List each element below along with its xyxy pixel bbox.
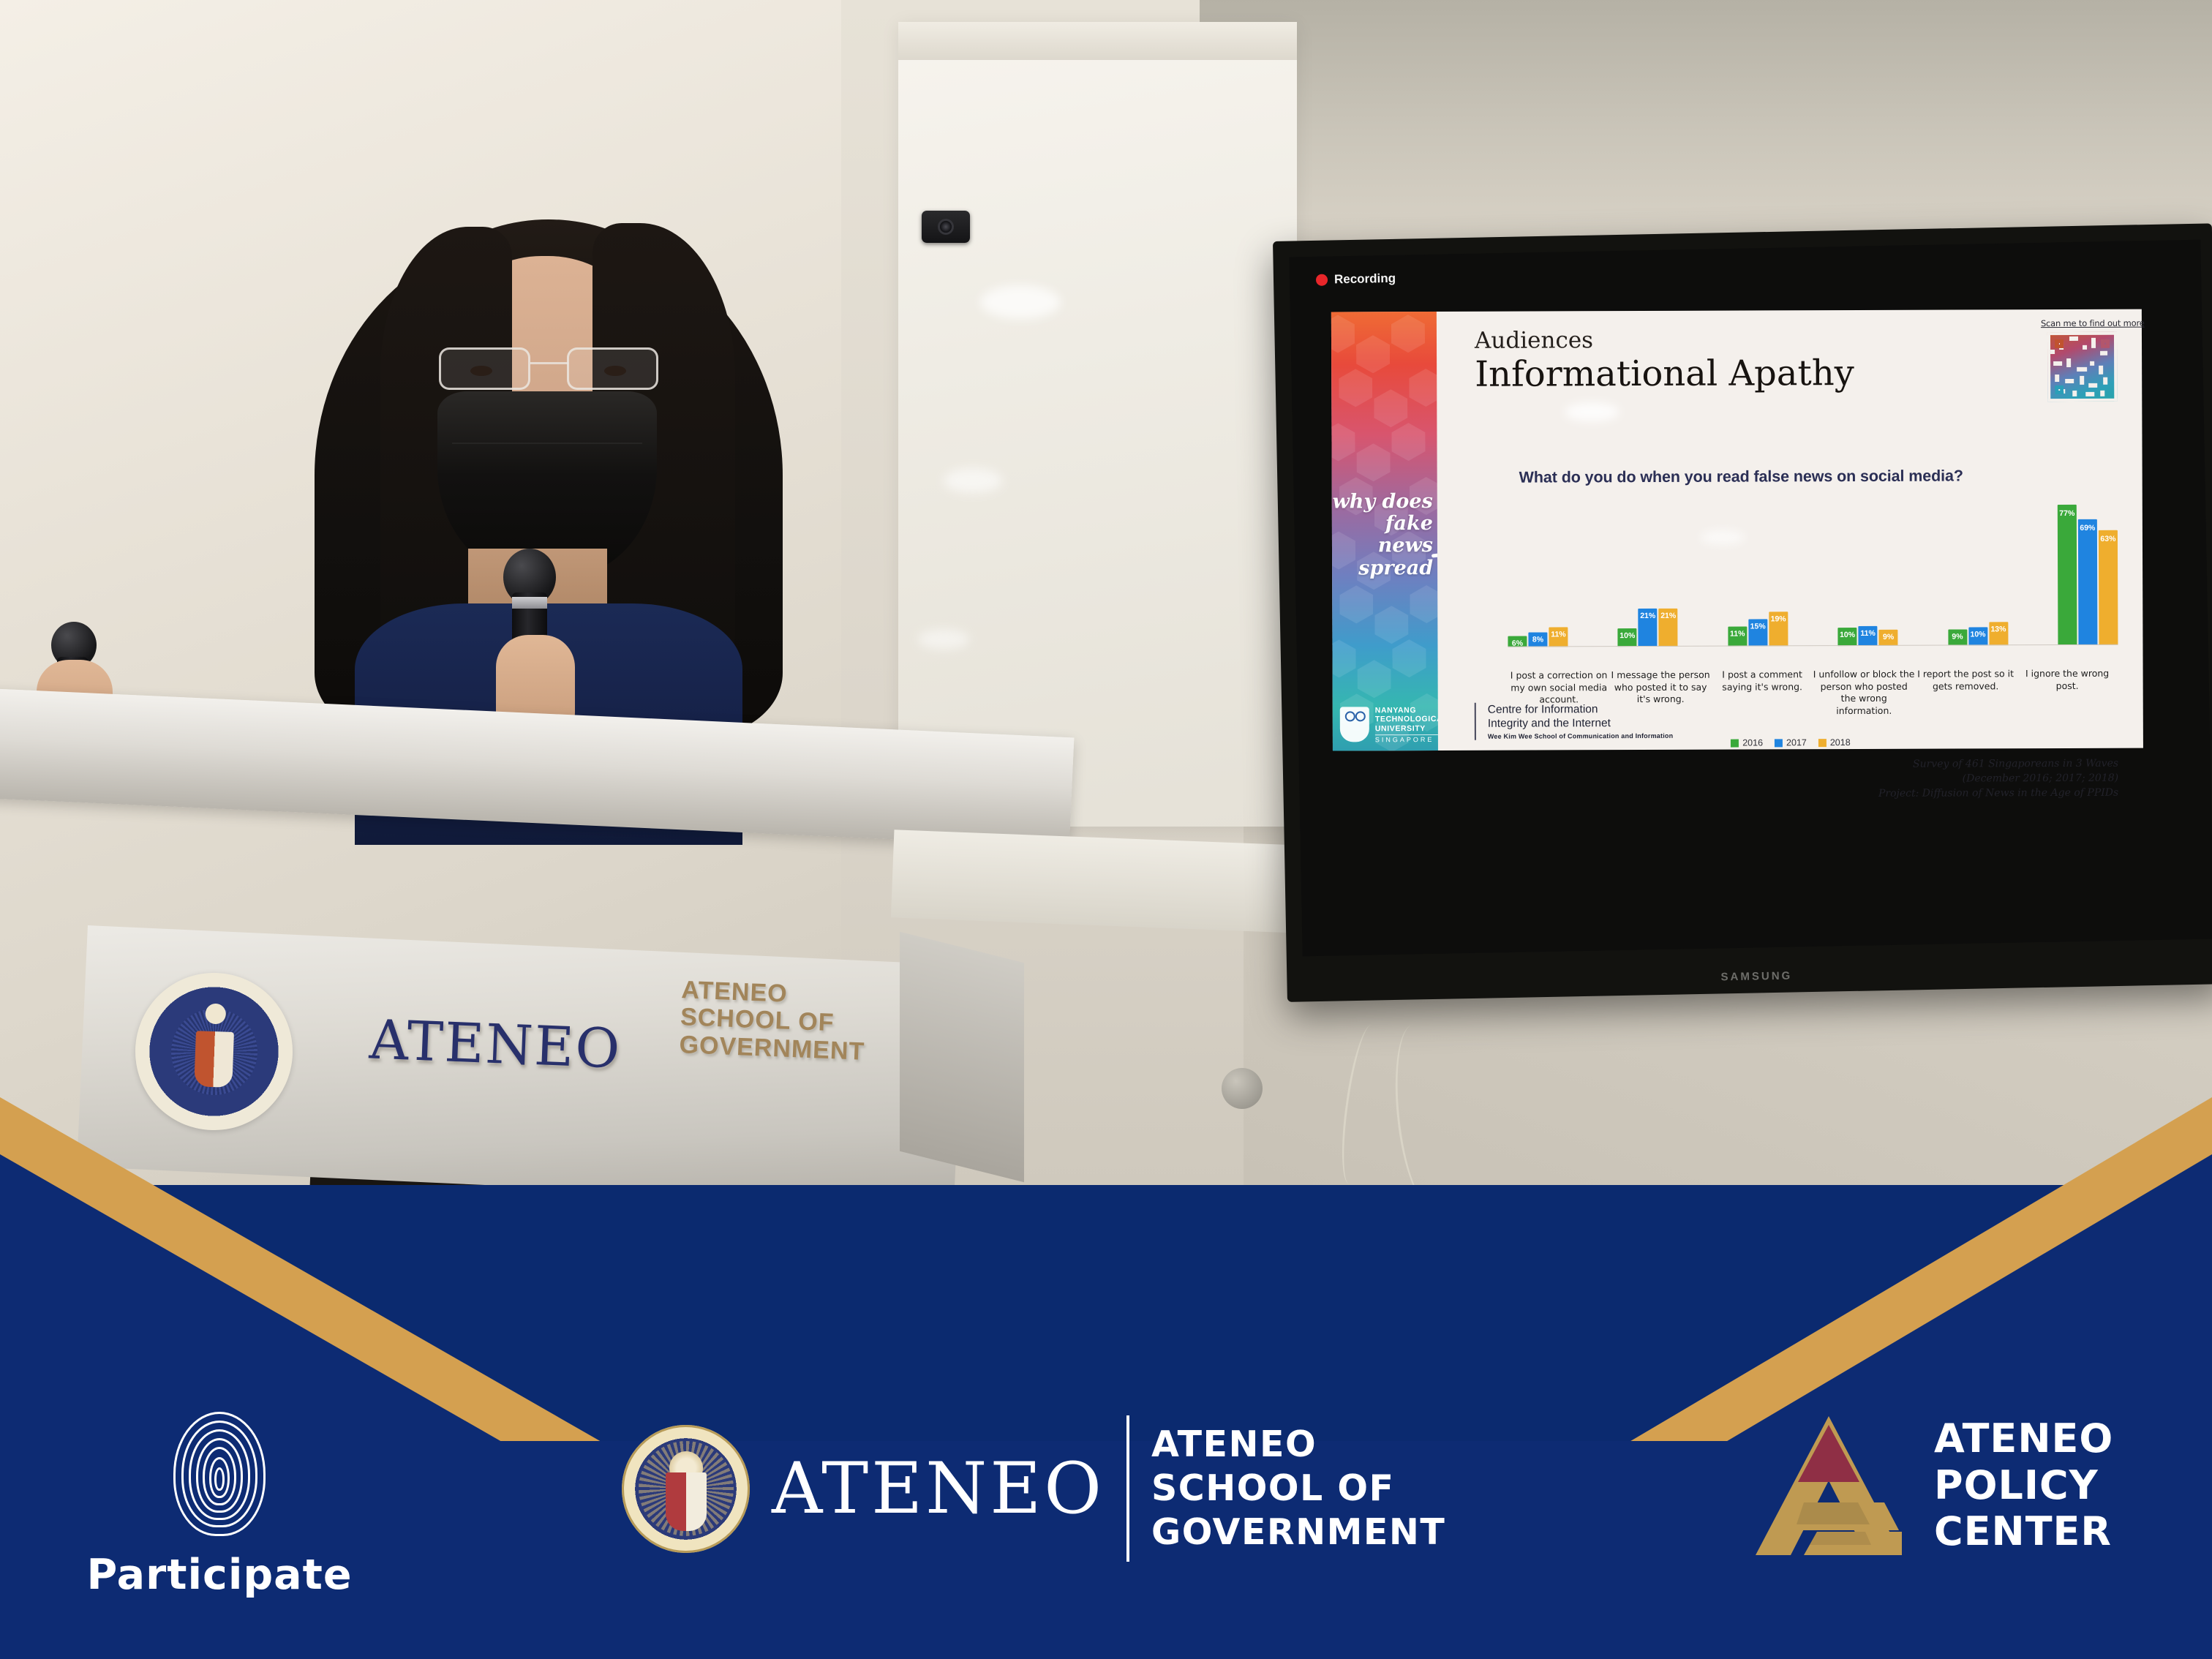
asg-unit-label: ATENEO SCHOOL OF GOVERNMENT	[1151, 1423, 1445, 1554]
chart-bar-value: 13%	[1990, 625, 2006, 633]
chart-category-label: I ignore the wrong post.	[2017, 668, 2118, 716]
chart-bar-value: 21%	[1660, 611, 1676, 620]
centre-credit: Centre for Information Integrity and the…	[1475, 701, 1674, 740]
chart-group: 10%11%9%	[1838, 625, 1898, 646]
microphone-ring	[512, 597, 547, 609]
chart-bar-value: 63%	[2100, 534, 2115, 543]
chart-source-note: Survey of 461 Singaporeans in 3 Waves (D…	[1878, 757, 2118, 802]
glasses-bridge	[530, 362, 568, 364]
chart-bar-value: 15%	[1750, 622, 1766, 631]
podium-seal-shield	[194, 1031, 234, 1088]
chart-group: 77%69%63%	[2058, 504, 2118, 645]
chart-bar-value: 77%	[2059, 508, 2074, 517]
chart-bar-value: 10%	[1840, 631, 1855, 639]
chart-bar-value: 8%	[1532, 635, 1543, 644]
logo-ateneo-policy-center: ATENEO POLICY CENTER	[1756, 1415, 2113, 1555]
centre-line-2: Integrity and the Internet	[1488, 716, 1673, 731]
slide-glare-1	[1565, 402, 1619, 421]
chart-bar: 10%	[1968, 627, 1987, 645]
legend-label: 2016	[1742, 737, 1763, 748]
chart-group: 6%8%11%	[1508, 627, 1568, 647]
slide-title: Informational Apathy	[1475, 353, 1854, 395]
apc-label: ATENEO POLICY CENTER	[1934, 1415, 2113, 1555]
chart-bar: 11%	[1549, 627, 1568, 647]
chart-bar: 15%	[1748, 619, 1767, 647]
chart-bar-value: 69%	[2080, 523, 2095, 532]
legend-swatch-icon	[1818, 739, 1827, 747]
chart-bar: 69%	[2078, 519, 2098, 645]
ceiling-shadow	[1200, 0, 2212, 241]
ateneo-wordmark: ATENEO	[772, 1448, 1105, 1530]
qr-code-icon[interactable]	[2047, 332, 2116, 402]
podium-unit-label: ATENEOSCHOOL OFGOVERNMENT	[679, 977, 868, 1066]
record-dot-icon	[1316, 274, 1328, 286]
webcam-icon	[922, 211, 970, 243]
chart-plot-area: 6%8%11%10%21%21%11%15%19%10%11%9%9%10%13…	[1508, 496, 2118, 647]
chart-category-label: I unfollow or block the person who poste…	[1813, 669, 1915, 717]
chart-question: What do you do when you read false news …	[1519, 467, 1963, 486]
chart-category-label: I post a comment saying it's wrong.	[1712, 669, 1813, 717]
chart-bar-value: 10%	[1970, 630, 1985, 639]
chart-bar-value: 10%	[1619, 631, 1635, 640]
chart-legend-item: 2017	[1775, 737, 1807, 748]
logo-ateneo-school-of-government: ATENEO ATENEO SCHOOL OF GOVERNMENT	[622, 1415, 1445, 1562]
wall-panel	[898, 22, 1297, 827]
chart-legend-item: 2018	[1818, 737, 1851, 748]
apc-line-3: CENTER	[1934, 1508, 2113, 1555]
chart-bar: 21%	[1639, 608, 1658, 647]
qr-caption: Scan me to find out more	[2041, 318, 2123, 328]
monitor-brand: SAMSUNG	[1720, 970, 1792, 984]
eye-right	[604, 366, 626, 376]
chart-bar: 19%	[1769, 612, 1788, 647]
chart-bar-value: 9%	[1952, 632, 1963, 641]
legend-swatch-icon	[1731, 739, 1739, 747]
speaker-glasses	[439, 347, 658, 391]
display-monitor: Recording	[1273, 223, 2212, 1001]
display-screen: Recording	[1289, 240, 2212, 957]
ntu-wordmark: NANYANG TECHNOLOGICAL UNIVERSITY SINGAPO…	[1375, 706, 1438, 743]
chart-bar: 11%	[1859, 625, 1878, 646]
chart-group: 11%15%19%	[1728, 612, 1788, 647]
chart-category-label: I report the post so it gets removed.	[1915, 668, 2017, 716]
chart-group: 9%10%13%	[1948, 622, 2008, 646]
chart-group: 10%21%21%	[1618, 608, 1678, 647]
source-line-1: Survey of 461 Singaporeans in 3 Waves	[1878, 757, 2118, 772]
chart-bar: 77%	[2058, 504, 2077, 645]
wall-panel-rail	[898, 22, 1297, 60]
slide-rail-title: why doesfake newsspread	[1332, 491, 1437, 579]
asg-line-2: SCHOOL OF	[1151, 1467, 1445, 1511]
screenshot-stage: ATENEO ATENEOSCHOOL OFGOVERNMENT Recordi…	[0, 0, 2212, 1659]
ntu-logo: NANYANG TECHNOLOGICAL UNIVERSITY SINGAPO…	[1340, 706, 1438, 744]
apc-triangle-icon	[1756, 1416, 1902, 1555]
mask-fold	[452, 443, 642, 444]
legend-label: 2018	[1830, 737, 1851, 748]
participate-label: Participate	[77, 1551, 362, 1599]
asg-line-3: GOVERNMENT	[1151, 1511, 1445, 1554]
chart-bar-value: 21%	[1640, 611, 1655, 620]
chart-bar-value: 11%	[1860, 628, 1875, 637]
speaker	[315, 183, 783, 739]
recording-label: Recording	[1334, 271, 1396, 287]
seal-shield	[666, 1472, 707, 1531]
eye-left	[470, 366, 492, 376]
chart-bar-value: 11%	[1551, 630, 1565, 639]
fingerprint-icon	[173, 1412, 266, 1538]
chart-bar: 13%	[1989, 622, 2008, 646]
chart-bar-value: 19%	[1771, 614, 1786, 623]
recording-indicator: Recording	[1316, 271, 1396, 287]
logo-participate: Participate	[77, 1412, 362, 1599]
source-line-3: Project: Diffusion of News in the Age of…	[1878, 786, 2118, 801]
chart-bar: 11%	[1728, 626, 1747, 647]
chart-bar: 63%	[2099, 530, 2118, 645]
slide-glare-2	[1701, 530, 1745, 545]
slide-eyebrow: Audiences	[1475, 327, 1593, 354]
asg-line-1: ATENEO	[1151, 1423, 1445, 1467]
panel-glare-2	[944, 468, 1002, 493]
panel-glare-3	[918, 629, 969, 650]
panel-glare-1	[980, 285, 1061, 319]
chart-bar: 10%	[1838, 628, 1857, 646]
centre-line-3: Wee Kim Wee School of Communication and …	[1488, 732, 1673, 740]
apc-line-1: ATENEO	[1934, 1415, 2113, 1462]
slide-accent-rail: why doesfake newsspread NANYANG TECHNOLO…	[1331, 312, 1438, 750]
ateneo-seal-icon	[622, 1425, 750, 1553]
chart-bar-value: 11%	[1730, 629, 1745, 638]
chart-bar: 9%	[1879, 629, 1898, 646]
chart-bar-value: 9%	[1883, 632, 1894, 641]
glasses-lens-right	[567, 347, 658, 390]
chart-bar: 8%	[1528, 632, 1547, 647]
chart-bar: 10%	[1618, 628, 1637, 647]
centre-line-1: Centre for Information	[1488, 701, 1673, 716]
event-photo: ATENEO ATENEOSCHOOL OFGOVERNMENT Recordi…	[0, 0, 2212, 1185]
qr-block: Scan me to find out more	[2041, 318, 2123, 402]
chart-bar: 9%	[1948, 629, 1967, 646]
apc-line-2: POLICY	[1934, 1462, 2113, 1509]
slide-content: Audiences Informational Apathy Scan me t…	[1437, 309, 2143, 750]
chart-legend-item: 2016	[1731, 737, 1763, 748]
logo-divider	[1126, 1415, 1129, 1562]
source-line-2: (December 2016; 2017; 2018)	[1878, 772, 2118, 787]
banner-logo-row: Participate ATENEO ATENEO SCHOOL OF GOVE…	[0, 1419, 2212, 1639]
bar-chart: 6%8%11%10%21%21%11%15%19%10%11%9%9%10%13…	[1508, 496, 2118, 666]
chart-bar: 21%	[1659, 608, 1678, 647]
wall-soffit	[891, 829, 1303, 933]
podium-wordmark: ATENEO	[368, 1008, 622, 1080]
legend-swatch-icon	[1775, 739, 1783, 747]
presentation-slide: why doesfake newsspread NANYANG TECHNOLO…	[1331, 309, 2143, 751]
glasses-lens-left	[439, 347, 530, 390]
legend-label: 2017	[1786, 737, 1807, 748]
ntu-shield-icon	[1340, 707, 1369, 742]
